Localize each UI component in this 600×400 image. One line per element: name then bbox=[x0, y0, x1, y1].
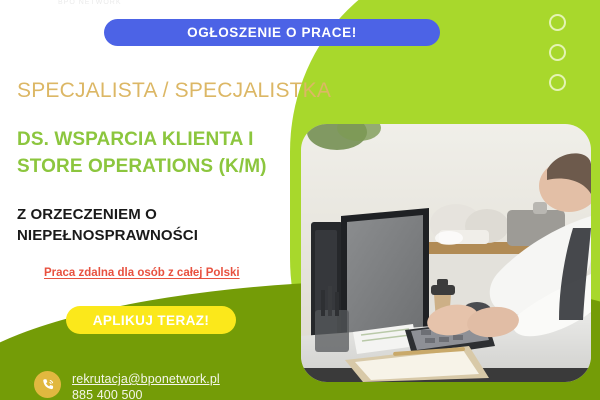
announcement-banner-label: OGŁOSZENIE O PRACE! bbox=[187, 25, 357, 40]
decorative-rings bbox=[549, 14, 566, 91]
job-title-line-1: DS. WSPARCIA KLIENTA I bbox=[17, 127, 267, 154]
announcement-banner: OGŁOSZENIE O PRACE! bbox=[104, 19, 440, 46]
ring-icon bbox=[549, 44, 566, 61]
apply-now-button[interactable]: APLIKUJ TERAZ! bbox=[66, 306, 236, 334]
apply-now-button-label: APLIKUJ TERAZ! bbox=[93, 313, 210, 328]
photo-illustration bbox=[301, 124, 591, 382]
brand-micro-text: BPO NETWORK bbox=[58, 0, 122, 6]
ring-icon bbox=[549, 14, 566, 31]
ring-icon bbox=[549, 74, 566, 91]
contact-details: rekrutacja@bponetwork.pl 885 400 500 bbox=[72, 371, 220, 400]
contact-email[interactable]: rekrutacja@bponetwork.pl bbox=[72, 372, 220, 388]
contact-phone-number[interactable]: 885 400 500 bbox=[72, 388, 220, 400]
disability-subtitle-line-1: Z ORZECZENIEM O bbox=[17, 204, 198, 225]
role-gender-heading: SPECJALISTA / SPECJALISTKA bbox=[17, 79, 331, 103]
disability-subtitle: Z ORZECZENIEM O NIEPEŁNOSPRAWNOŚCI bbox=[17, 204, 198, 247]
job-title-line-2: STORE OPERATIONS (K/M) bbox=[17, 154, 267, 181]
phone-ringing-icon bbox=[34, 371, 61, 398]
disability-subtitle-line-2: NIEPEŁNOSPRAWNOŚCI bbox=[17, 225, 198, 246]
workplace-photo bbox=[301, 124, 591, 382]
job-advertisement-poster: BPO NETWORK OGŁOSZENIE O PRACE! SPECJALI… bbox=[0, 0, 600, 400]
job-title-heading: DS. WSPARCIA KLIENTA I STORE OPERATIONS … bbox=[17, 127, 267, 181]
phone-ringing-glyph bbox=[40, 377, 56, 393]
contact-block: rekrutacja@bponetwork.pl 885 400 500 bbox=[34, 371, 220, 400]
remote-work-note: Praca zdalna dla osób z całej Polski bbox=[44, 267, 240, 279]
